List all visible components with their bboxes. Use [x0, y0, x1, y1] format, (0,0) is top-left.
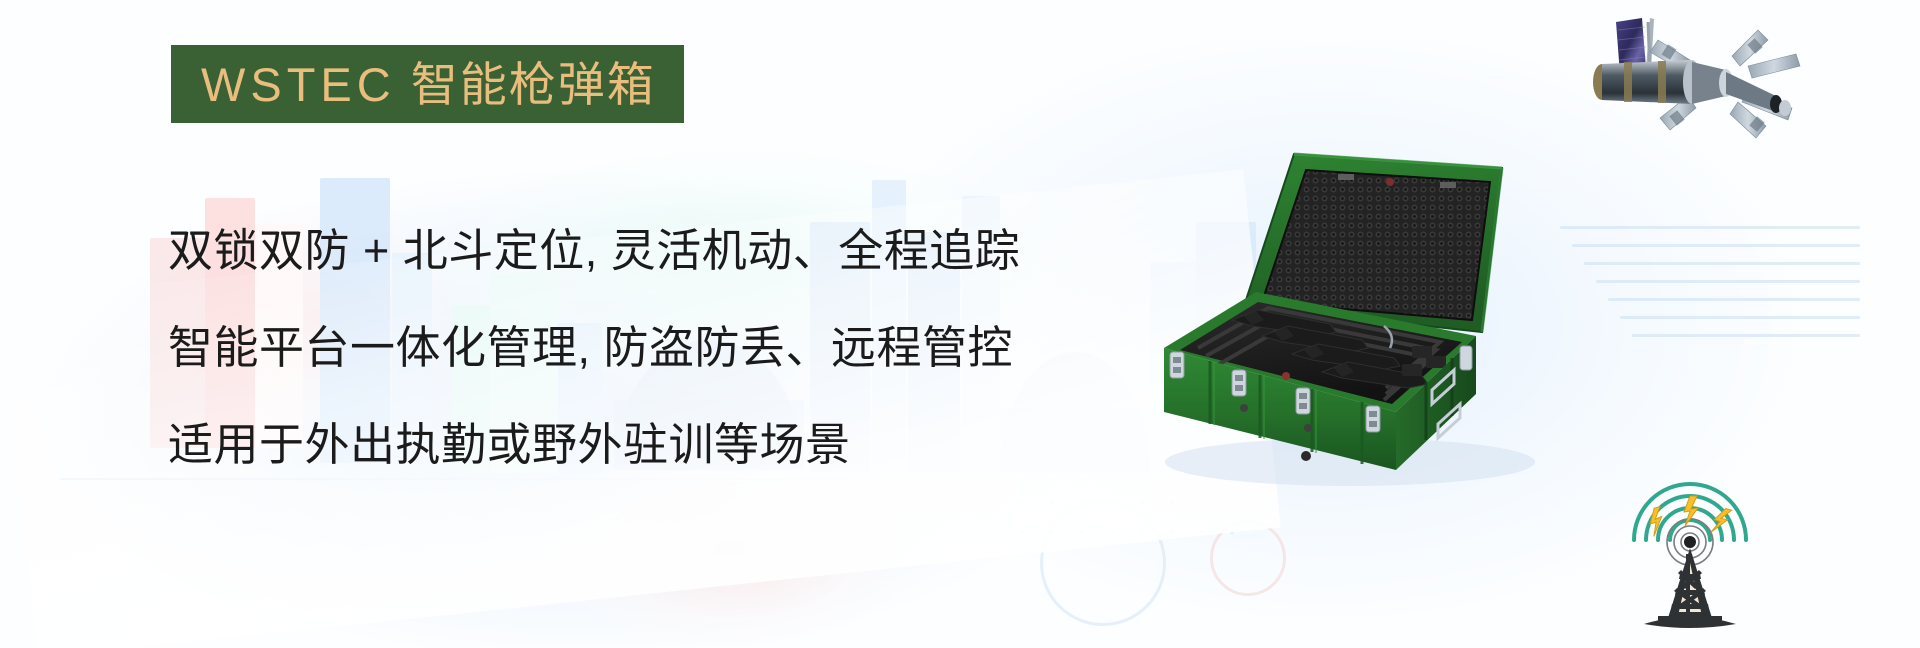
product-image-ammo-case — [1140, 140, 1600, 500]
signal-tower-icon — [1600, 430, 1790, 630]
page-title: WSTEC 智能枪弹箱 — [201, 61, 656, 108]
feature-line-1: 双锁双防 + 北斗定位, 灵活机动、全程追踪 — [168, 228, 1020, 273]
title-banner: WSTEC 智能枪弹箱 — [171, 45, 684, 123]
brand-name: WSTEC — [201, 58, 396, 111]
feature-line-3: 适用于外出执勤或野外驻训等场景 — [168, 422, 1020, 467]
satellite-icon — [1580, 4, 1820, 154]
product-name: 智能枪弹箱 — [411, 58, 656, 111]
product-banner: WSTEC 智能枪弹箱 双锁双防 + 北斗定位, 灵活机动、全程追踪 智能平台一… — [0, 0, 1920, 648]
feature-line-2: 智能平台一体化管理, 防盗防丢、远程管控 — [168, 325, 1020, 370]
feature-list: 双锁双防 + 北斗定位, 灵活机动、全程追踪 智能平台一体化管理, 防盗防丢、远… — [168, 228, 1020, 467]
